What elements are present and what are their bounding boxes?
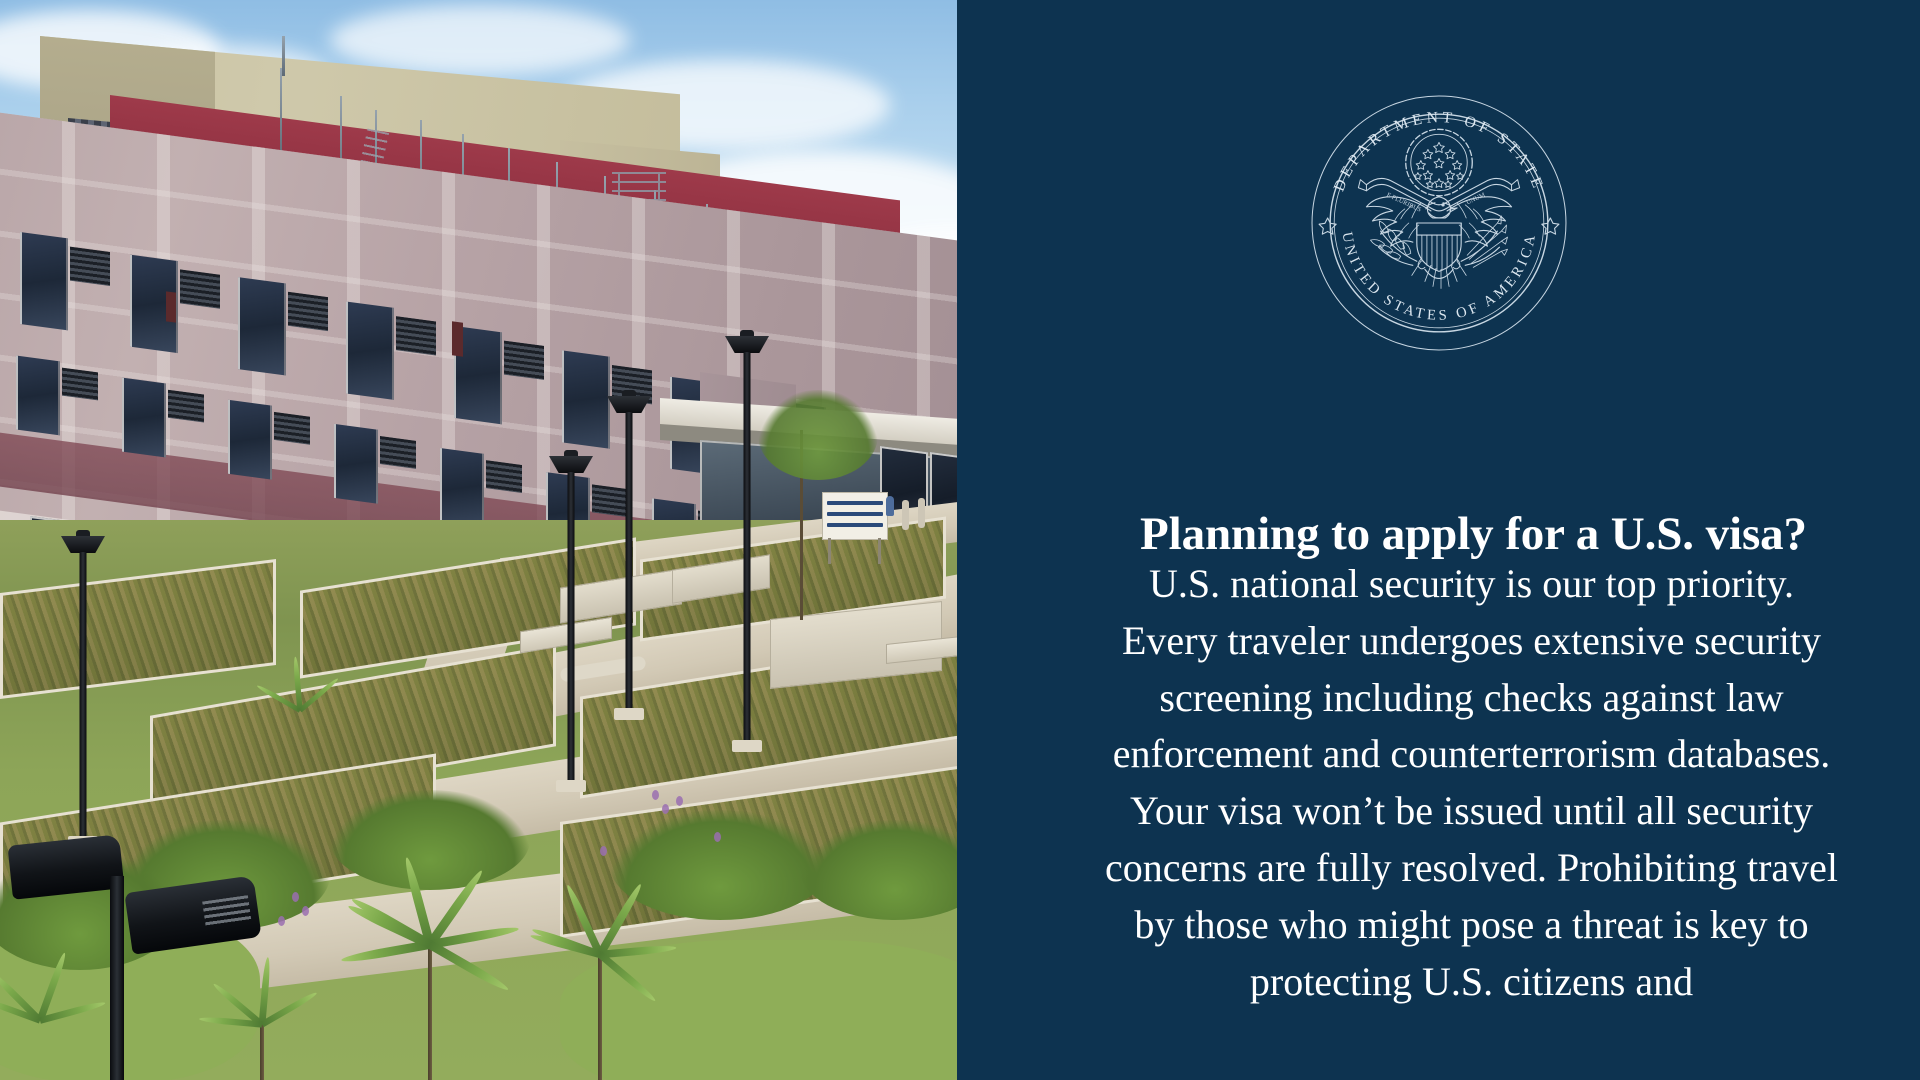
lawn bbox=[560, 940, 957, 1080]
seal-bottom-text: UNITED STATES OF AMERICA bbox=[1338, 231, 1539, 324]
seal-eagle-wings bbox=[1366, 197, 1511, 246]
flower bbox=[278, 916, 285, 926]
body-paragraph: U.S. national security is our top priori… bbox=[1023, 556, 1920, 1010]
lamp-head bbox=[549, 456, 593, 473]
palm-trunk bbox=[598, 950, 602, 1080]
lamp-head bbox=[61, 536, 105, 553]
seal-talons bbox=[1418, 259, 1460, 269]
lamp-post bbox=[60, 530, 106, 850]
window bbox=[228, 400, 272, 480]
garden-grounds bbox=[0, 520, 957, 1080]
lamp-head bbox=[607, 396, 651, 413]
sign-leg bbox=[878, 538, 881, 564]
lamp-post bbox=[548, 450, 594, 790]
information-sign bbox=[822, 492, 888, 540]
page-title: Planning to apply for a U.S. visa? bbox=[1035, 509, 1912, 560]
window-louver bbox=[70, 247, 110, 286]
lamp-cap bbox=[564, 450, 578, 457]
facade-vent bbox=[452, 321, 463, 356]
sign-line bbox=[827, 523, 883, 527]
lamp-pole bbox=[80, 552, 87, 842]
graphic-stage: DEPARTMENT OF STATE UNITED STATES OF AME… bbox=[0, 0, 1920, 1080]
sign-line bbox=[827, 501, 883, 505]
window bbox=[440, 448, 484, 528]
paragraph-line: U.S. national security is our top priori… bbox=[1023, 556, 1920, 613]
paragraph-line: screening including checks against law bbox=[1023, 670, 1920, 727]
window bbox=[238, 277, 286, 375]
flagpole bbox=[282, 36, 285, 76]
lamp-post bbox=[724, 330, 770, 750]
lamp-cap bbox=[76, 530, 90, 537]
info-panel: DEPARTMENT OF STATE UNITED STATES OF AME… bbox=[957, 0, 1920, 1080]
lamp-pole bbox=[626, 412, 633, 712]
lamp-pole bbox=[568, 472, 575, 784]
sign-leg bbox=[828, 538, 831, 564]
fixture-post bbox=[110, 876, 124, 1080]
window-louver bbox=[486, 460, 522, 493]
lamp-cap bbox=[740, 330, 754, 337]
pedestrian bbox=[886, 496, 894, 516]
seal-olive-branch bbox=[1370, 221, 1416, 265]
window bbox=[334, 424, 378, 504]
shrub bbox=[610, 810, 830, 920]
seal-eagle-tail bbox=[1411, 261, 1465, 288]
window bbox=[122, 378, 166, 458]
bollard bbox=[902, 500, 909, 530]
planting-bed bbox=[0, 559, 276, 699]
window bbox=[346, 302, 394, 400]
bollard bbox=[918, 498, 925, 528]
lamp-cap bbox=[622, 390, 636, 397]
lamp-pole bbox=[744, 352, 751, 744]
flower bbox=[714, 832, 721, 842]
lamp-base bbox=[732, 740, 762, 752]
window-louver bbox=[62, 368, 98, 401]
palm-trunk bbox=[428, 940, 432, 1080]
shrub bbox=[330, 790, 530, 890]
fixture-slats bbox=[202, 895, 251, 927]
sign-line bbox=[827, 512, 883, 516]
seal-motto: UNUM bbox=[1465, 192, 1486, 207]
window-louver bbox=[180, 269, 220, 308]
flower bbox=[302, 906, 309, 916]
embassy-photo bbox=[0, 0, 957, 1080]
paragraph-line: by those who might pose a threat is key … bbox=[1023, 897, 1920, 954]
seal-star bbox=[1541, 218, 1558, 234]
paragraph-line: protecting U.S. citizens and bbox=[1023, 954, 1920, 1011]
paragraph-line: Your visa won’t be issued until all secu… bbox=[1023, 783, 1920, 840]
seal-star bbox=[1319, 218, 1336, 234]
window-louver bbox=[168, 390, 204, 423]
window bbox=[16, 355, 60, 435]
seal-glory bbox=[1405, 129, 1472, 196]
lamp-base bbox=[556, 780, 586, 792]
window-louver bbox=[396, 316, 436, 355]
facade-vent bbox=[166, 291, 176, 322]
flower bbox=[676, 796, 683, 806]
svg-text:UNITED STATES OF AMERICA: UNITED STATES OF AMERICA bbox=[1338, 231, 1539, 324]
palm-trunk bbox=[260, 1020, 264, 1080]
lamp-head bbox=[725, 336, 769, 353]
window-louver bbox=[380, 436, 416, 469]
window-louver bbox=[288, 292, 328, 331]
window bbox=[20, 232, 68, 330]
flower bbox=[652, 790, 659, 800]
paragraph-line: concerns are fully resolved. Prohibiting… bbox=[1023, 840, 1920, 897]
department-of-state-seal: DEPARTMENT OF STATE UNITED STATES OF AME… bbox=[1306, 92, 1572, 354]
lamp-post bbox=[606, 390, 652, 720]
palm-frond bbox=[260, 990, 318, 1027]
paragraph-line: Every traveler undergoes extensive secur… bbox=[1023, 613, 1920, 670]
window-louver bbox=[504, 341, 544, 380]
tree-canopy bbox=[758, 390, 878, 480]
seal-shield bbox=[1416, 223, 1460, 271]
lamp-base bbox=[614, 708, 644, 720]
paragraph-line: enforcement and counterterrorism databas… bbox=[1023, 726, 1920, 783]
flower bbox=[600, 846, 607, 856]
window-louver bbox=[274, 412, 310, 445]
flower bbox=[662, 804, 669, 814]
flower bbox=[292, 892, 299, 902]
